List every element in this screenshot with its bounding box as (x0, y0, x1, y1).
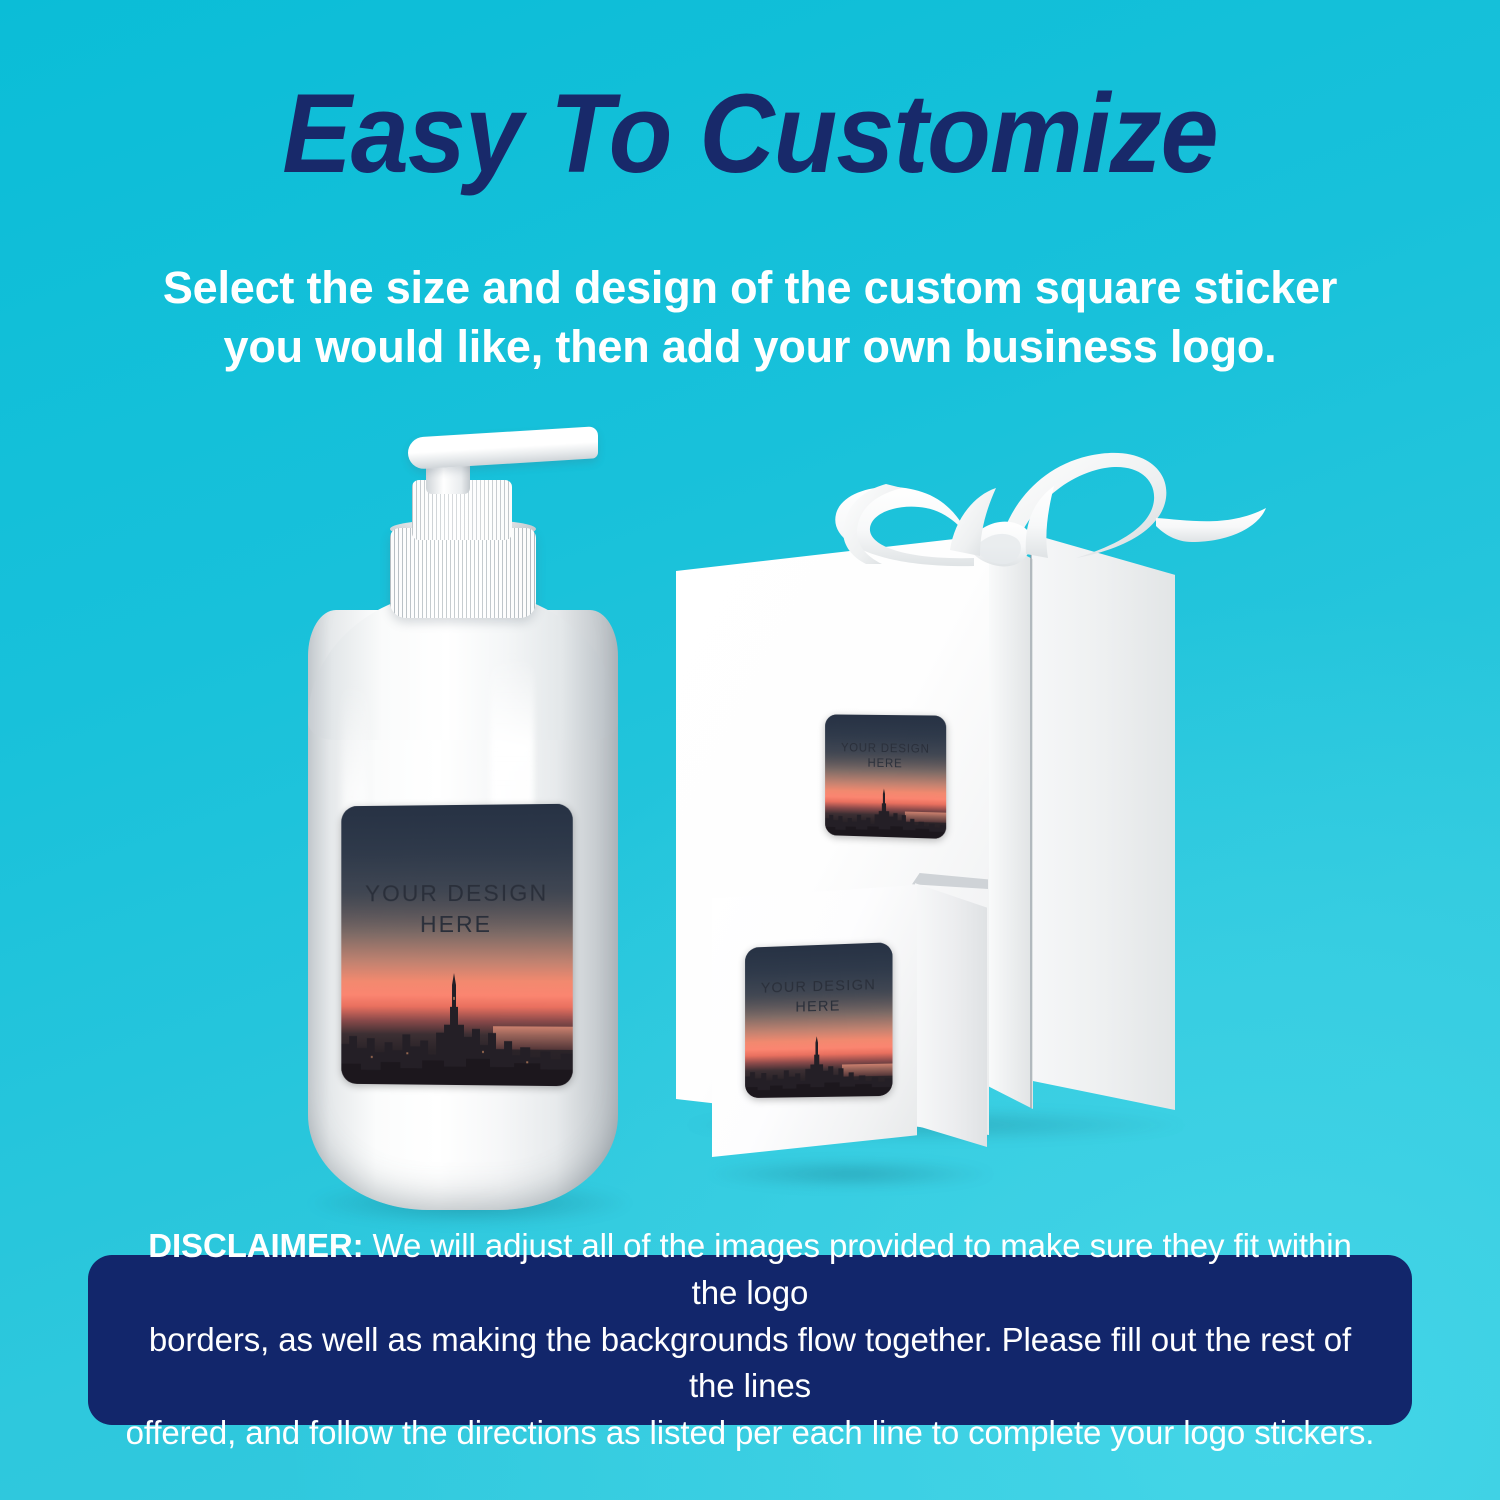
sticker-text-line-1: YOUR DESIGN (761, 978, 876, 998)
sticker-text-line-1: YOUR DESIGN (841, 742, 930, 755)
disclaimer-label: DISCLAIMER: (148, 1227, 363, 1264)
product-scene: YOUR DESIGN HERE (0, 395, 1500, 1225)
small-box-shadow (708, 1159, 993, 1189)
city-skyline-icon (745, 1031, 892, 1098)
sticker-placeholder-text: YOUR DESIGN HERE (745, 976, 892, 1020)
gift-box-sticker: YOUR DESIGN HERE (825, 714, 946, 839)
city-skyline-icon (341, 967, 572, 1086)
disclaimer-line-1-body: We will adjust all of the images provide… (363, 1227, 1351, 1311)
subtitle-line-2: you would like, then add your own busine… (120, 317, 1380, 376)
small-box-sticker: YOUR DESIGN HERE (745, 942, 892, 1098)
gift-box-side-panel (987, 524, 1033, 1109)
disclaimer-text: DISCLAIMER: We will adjust all of the im… (122, 1223, 1378, 1457)
page-title: Easy To Customize (53, 78, 1448, 190)
sticker-text-line-1: YOUR DESIGN (365, 879, 548, 906)
disclaimer-line-3: offered, and follow the directions as li… (122, 1410, 1378, 1457)
bottle-ribbed-collar (390, 528, 536, 618)
pump-dispenser-head (408, 426, 598, 470)
subtitle-line-1: Select the size and design of the custom… (163, 262, 1337, 313)
ribbon-bow-icon (736, 446, 1336, 586)
small-box-side-panel (915, 875, 987, 1147)
sticker-placeholder-text: YOUR DESIGN HERE (341, 877, 572, 940)
small-box-product: YOUR DESIGN HERE (712, 885, 987, 1175)
disclaimer-banner: DISCLAIMER: We will adjust all of the im… (88, 1255, 1412, 1425)
sticker-placeholder-text: YOUR DESIGN HERE (825, 741, 946, 774)
sticker-text-line-2: HERE (341, 909, 572, 940)
disclaimer-line-2: borders, as well as making the backgroun… (122, 1317, 1378, 1411)
disclaimer-line-1: DISCLAIMER: We will adjust all of the im… (122, 1223, 1378, 1317)
sticker-text-line-2: HERE (825, 756, 946, 774)
bottle-label-sticker: YOUR DESIGN HERE (341, 804, 572, 1087)
sticker-text-line-2: HERE (745, 996, 892, 1020)
page-subtitle: Select the size and design of the custom… (120, 258, 1380, 377)
pump-bottle-product: YOUR DESIGN HERE (290, 430, 640, 1220)
gift-box-lid-seam (1030, 526, 1032, 1108)
gift-box-back-panel (1031, 522, 1175, 1110)
city-skyline-icon (825, 784, 946, 839)
